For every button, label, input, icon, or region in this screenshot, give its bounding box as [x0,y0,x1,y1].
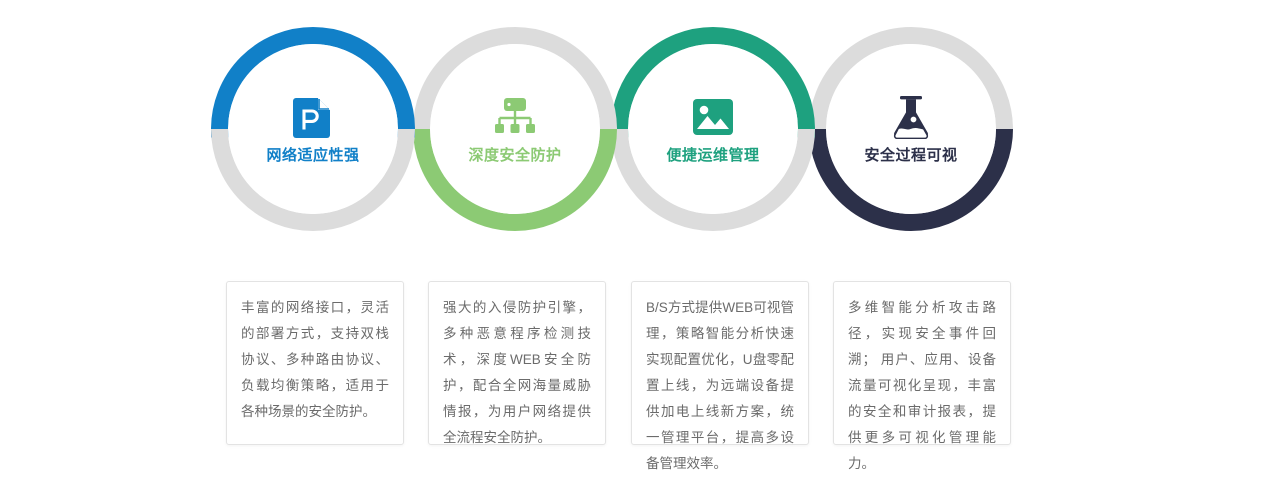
description-text-3: 多维智能分析攻击路径，实现安全事件回溯； 用户、应用、设备流量可视化呈现，丰富的… [848,295,996,477]
description-card-2: B/S方式提供WEB可视管理，策略智能分析快速实现配置优化，U盘零配置上线，为远… [631,281,809,445]
circle-label-0: 网络适应性强 [266,148,359,163]
flask-beaker-icon [889,95,933,139]
circle-inner-2: 便捷运维管理 [628,44,798,214]
circle-inner-0: 网络适应性强 [228,44,398,214]
circle-label-2: 便捷运维管理 [666,148,759,163]
feature-circle-0[interactable]: 网络适应性强 [211,27,415,231]
circle-inner-1: 深度安全防护 [430,44,600,214]
feature-circle-2[interactable]: 便捷运维管理 [611,27,815,231]
description-text-2: B/S方式提供WEB可视管理，策略智能分析快速实现配置优化，U盘零配置上线，为远… [646,295,794,477]
feature-circle-3[interactable]: 安全过程可视 [809,27,1013,231]
description-card-3: 多维智能分析攻击路径，实现安全事件回溯； 用户、应用、设备流量可视化呈现，丰富的… [833,281,1011,445]
description-text-0: 丰富的网络接口，灵活的部署方式，支持双栈协议、多种路由协议、负载均衡策略，适用于… [241,295,389,425]
feature-circles-row: 网络适应性强 深度安全防护 [0,0,1269,270]
image-picture-icon [691,95,735,139]
document-p-icon [291,95,335,139]
circle-inner-3: 安全过程可视 [826,44,996,214]
feature-description-cards-row: 丰富的网络接口，灵活的部署方式，支持双栈协议、多种路由协议、负载均衡策略，适用于… [0,281,1269,449]
circle-label-1: 深度安全防护 [468,148,561,163]
network-topology-icon [493,95,537,139]
description-card-1: 强大的入侵防护引擎，多种恶意程序检测技术，深度WEB安全防护，配合全网海量威胁情… [428,281,606,445]
circle-label-3: 安全过程可视 [864,148,957,163]
description-card-0: 丰富的网络接口，灵活的部署方式，支持双栈协议、多种路由协议、负载均衡策略，适用于… [226,281,404,445]
description-text-1: 强大的入侵防护引擎，多种恶意程序检测技术，深度WEB安全防护，配合全网海量威胁情… [443,295,591,451]
feature-circle-1[interactable]: 深度安全防护 [413,27,617,231]
